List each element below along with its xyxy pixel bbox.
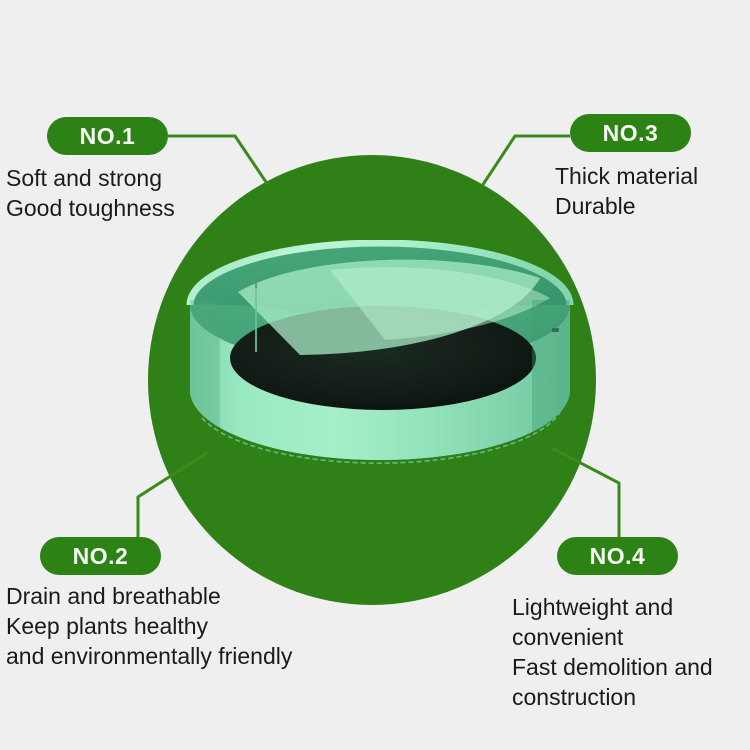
feature-text-no2: Drain and breathable Keep plants healthy… bbox=[6, 581, 292, 671]
feature-text-no3: Thick material Durable bbox=[555, 161, 698, 221]
feature-text-no1: Soft and strong Good toughness bbox=[6, 163, 175, 223]
feature-badge-no3[interactable]: NO.3 bbox=[570, 114, 691, 152]
product-feature-infographic: NO.1 Soft and strong Good toughness NO.3… bbox=[0, 0, 750, 750]
connector-line-1 bbox=[168, 136, 268, 185]
feature-badge-no1[interactable]: NO.1 bbox=[47, 117, 168, 155]
feature-text-no4: Lightweight and convenient Fast demoliti… bbox=[512, 592, 713, 712]
product-image-grow-bag bbox=[180, 240, 580, 523]
feature-badge-no4[interactable]: NO.4 bbox=[557, 537, 678, 575]
feature-badge-no2[interactable]: NO.2 bbox=[40, 537, 161, 575]
